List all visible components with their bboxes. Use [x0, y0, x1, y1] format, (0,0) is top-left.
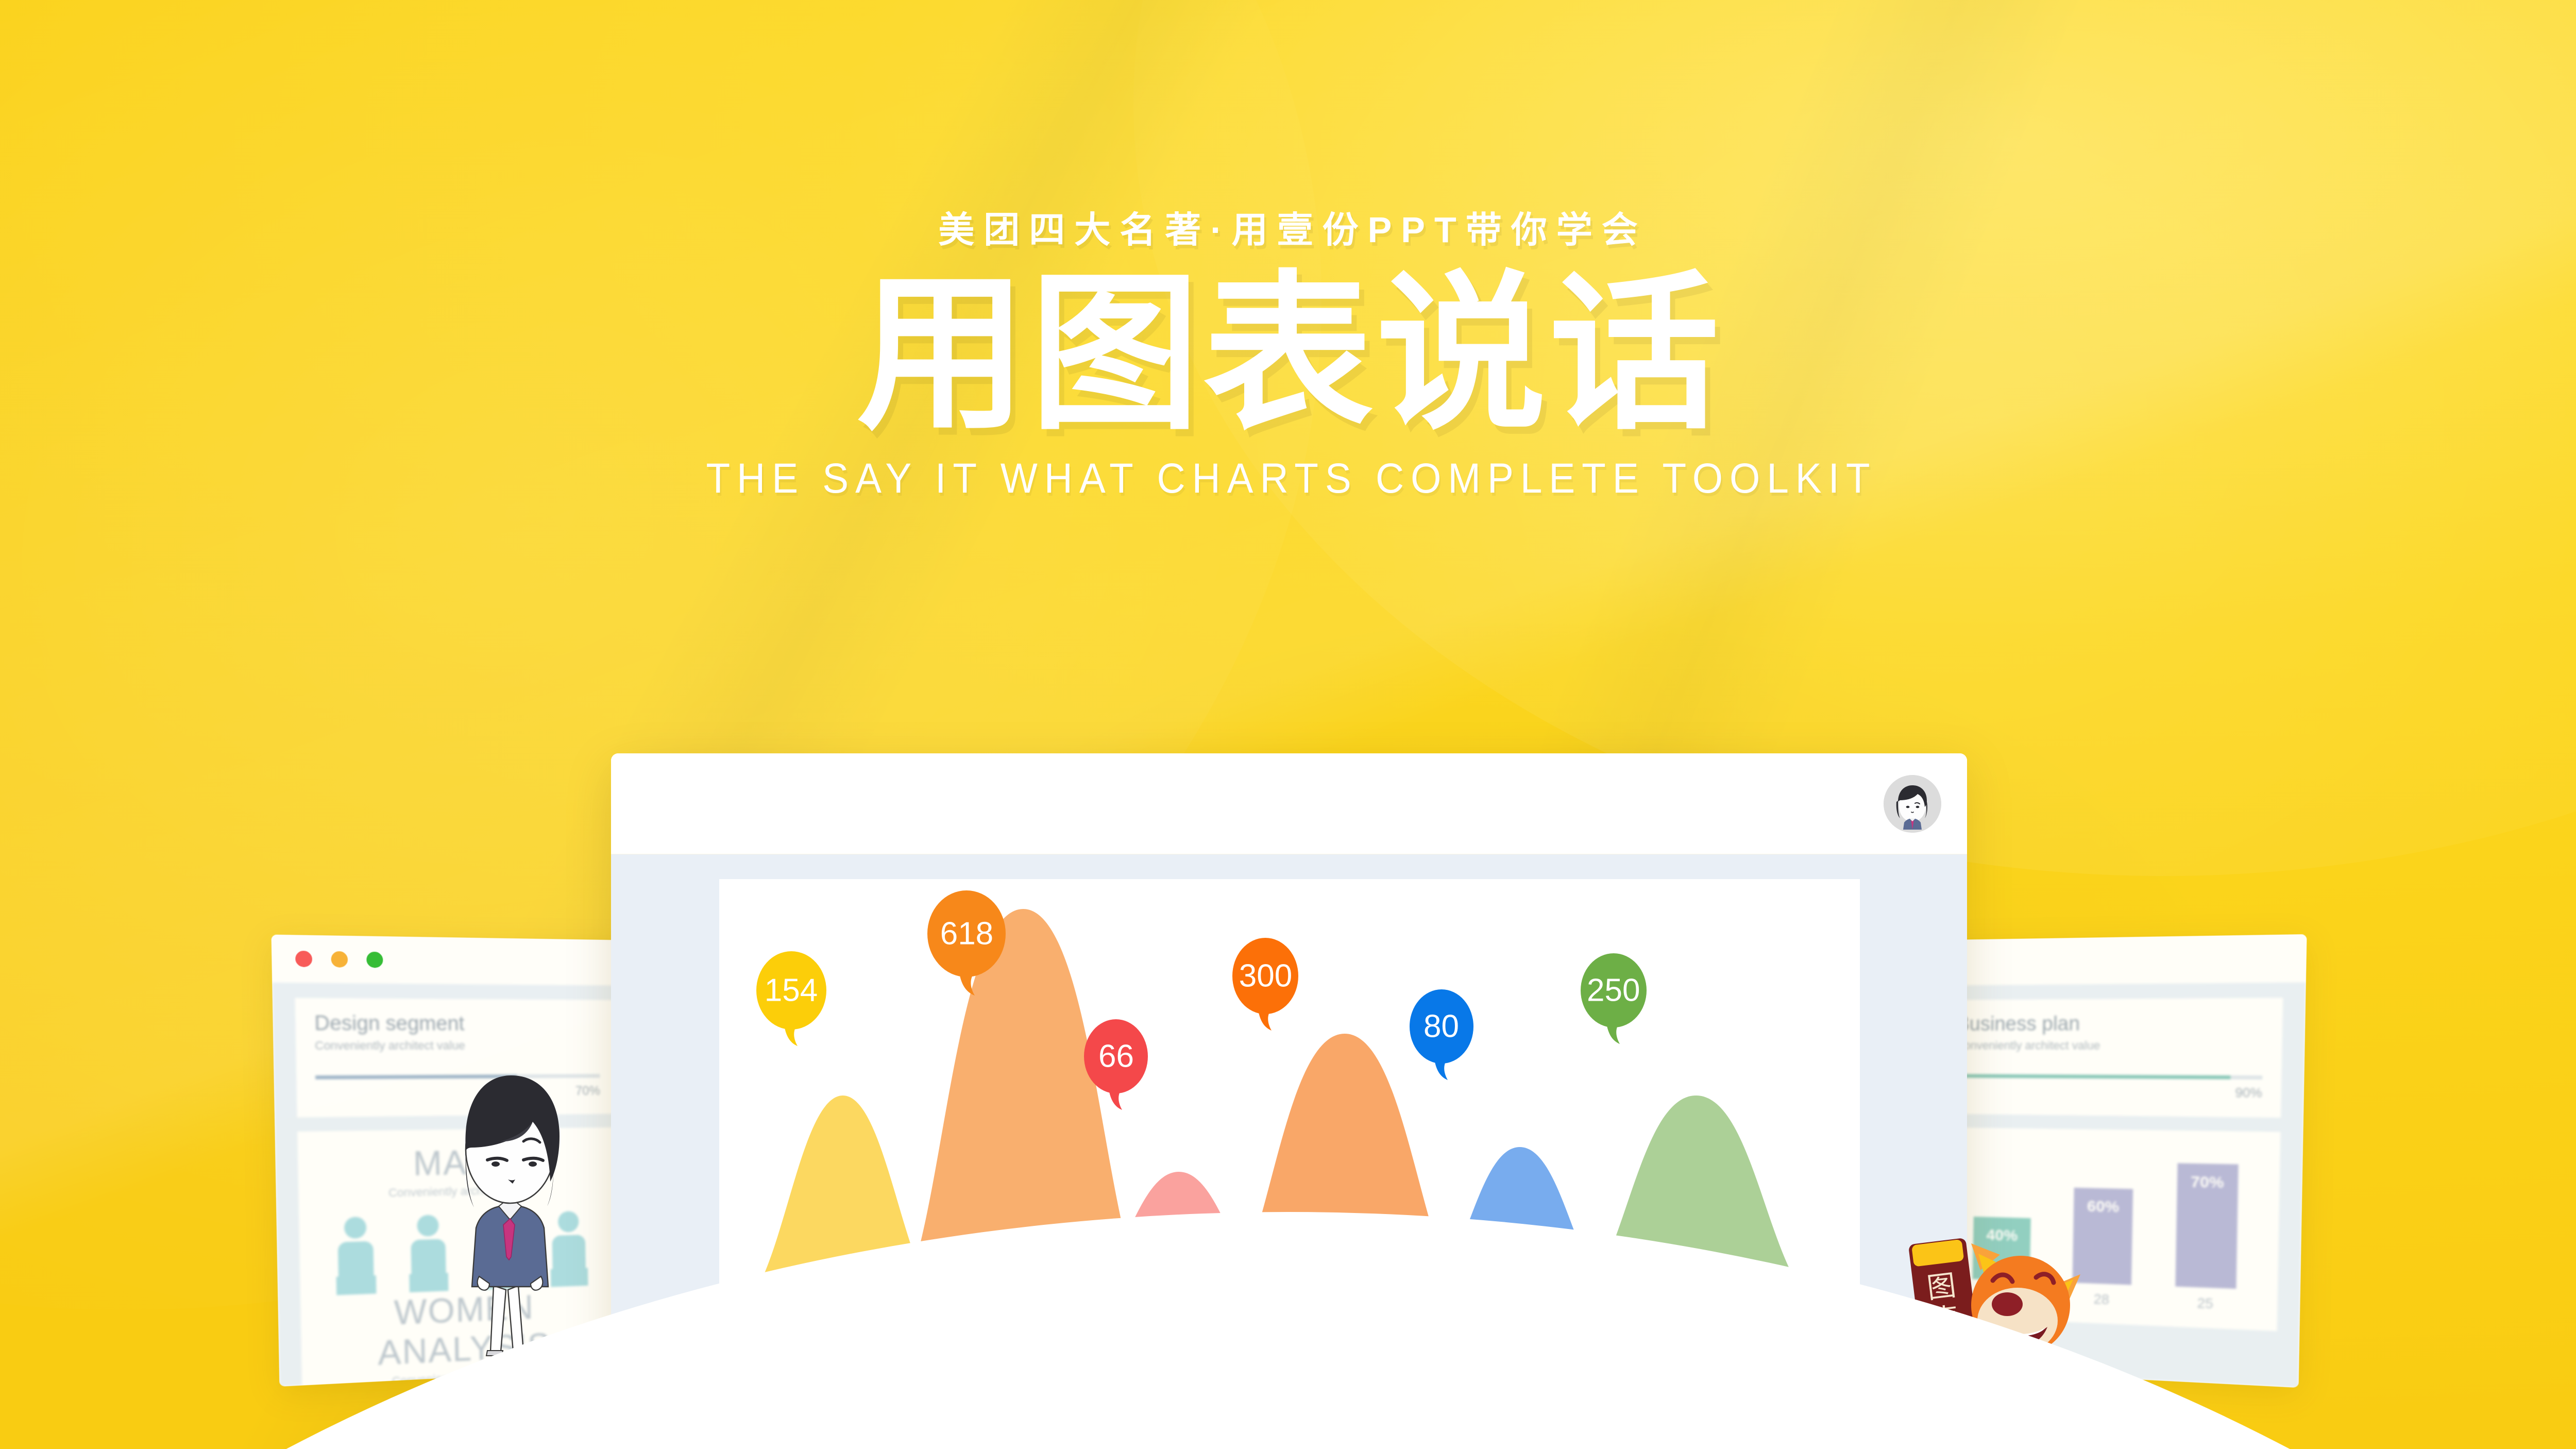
window-titlebar-left — [272, 935, 636, 986]
page-title: 用图表说话 — [0, 267, 2576, 441]
hero-eyebrow: 美团四大名著·用壹份PPT带你学会 — [0, 201, 2576, 253]
main-window-titlebar — [611, 753, 1967, 854]
user-avatar[interactable] — [1884, 775, 1941, 833]
card-business-plan: Business plan Conveniently architect val… — [1938, 998, 2283, 1118]
character-illustration-woman — [422, 1064, 598, 1358]
card-subheading: Conveniently architect value — [1956, 1039, 2263, 1053]
maximize-icon[interactable] — [366, 952, 383, 968]
value-bubble-4 — [1410, 989, 1473, 1080]
bar-group: 70% 25 — [2175, 1163, 2238, 1313]
hero-block: 美团四大名著·用壹份PPT带你学会 用图表说话 THE SAY IT WHAT … — [0, 201, 2576, 503]
bar: 70% — [2175, 1163, 2238, 1289]
card-heading: Business plan — [1956, 1012, 2264, 1036]
value-bubble-0 — [756, 951, 826, 1046]
close-icon[interactable] — [295, 951, 312, 967]
person-icon — [335, 1217, 375, 1277]
progress-percent: 90% — [1955, 1084, 2262, 1101]
progress-track — [1956, 1074, 2263, 1079]
minimize-icon[interactable] — [331, 951, 348, 968]
bar-x-label: 25 — [2175, 1294, 2236, 1313]
card-heading: Design segment — [314, 1012, 599, 1036]
bar-value: 70% — [2177, 1173, 2238, 1192]
window-titlebar-right — [1920, 934, 2307, 986]
value-bubble-3 — [1232, 938, 1298, 1031]
traffic-light-group — [295, 951, 383, 968]
card-subheading: Conveniently architect value — [315, 1039, 600, 1053]
value-bubble-5 — [1581, 953, 1647, 1044]
mascot-sign-char-1: 图 — [1925, 1269, 1958, 1304]
progress-fill — [1956, 1074, 2231, 1079]
hero-subtitle: THE SAY IT WHAT CHARTS COMPLETE TOOLKIT — [90, 454, 2486, 503]
